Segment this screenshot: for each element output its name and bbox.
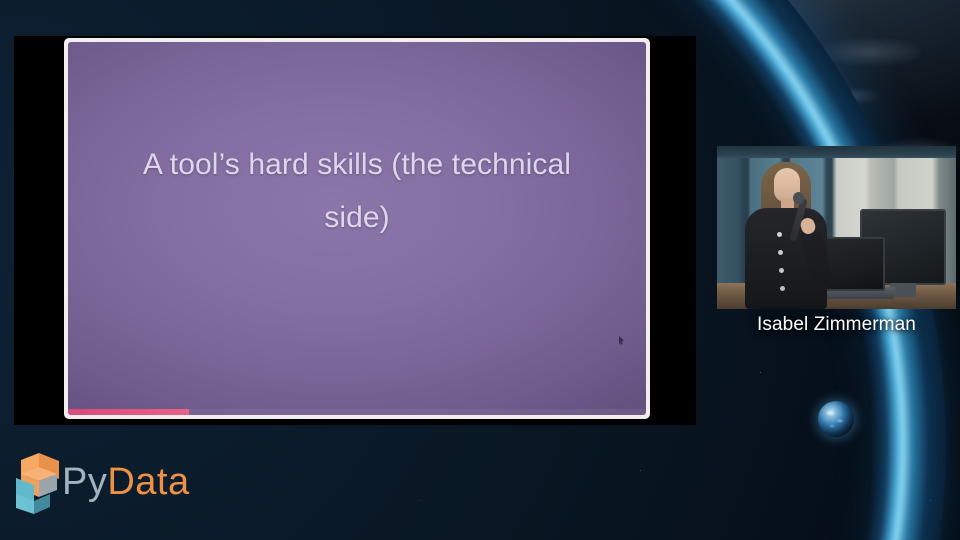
- slide-progress-track[interactable]: [68, 409, 646, 415]
- shirt-button: [779, 268, 784, 273]
- slide-surface[interactable]: A tool’s hard skills (the technical side…: [68, 42, 646, 415]
- talk-recording-frame: A tool’s hard skills (the technical side…: [0, 0, 960, 540]
- distant-earth-icon: [818, 401, 854, 437]
- microphone-head: [793, 192, 804, 204]
- pydata-wordmark: PyData: [62, 461, 190, 504]
- logo-text-data: Data: [107, 461, 189, 503]
- shirt-button: [778, 250, 783, 255]
- pydata-cube-icon: [12, 452, 66, 514]
- slide-frame: A tool’s hard skills (the technical side…: [64, 38, 650, 419]
- mouse-cursor-icon: [619, 336, 624, 345]
- speaker-video-panel[interactable]: [717, 146, 956, 309]
- speaker-name-label: Isabel Zimmerman: [717, 314, 956, 336]
- slide-progress-fill: [68, 409, 189, 415]
- earth-landmass: [818, 401, 854, 437]
- shirt-button: [777, 232, 782, 237]
- slide-title: A tool’s hard skills (the technical side…: [68, 138, 646, 245]
- pydata-logo: PyData: [12, 452, 198, 516]
- room-ceiling: [717, 146, 956, 158]
- logo-text-py: Py: [62, 461, 107, 503]
- shirt-button: [780, 286, 785, 291]
